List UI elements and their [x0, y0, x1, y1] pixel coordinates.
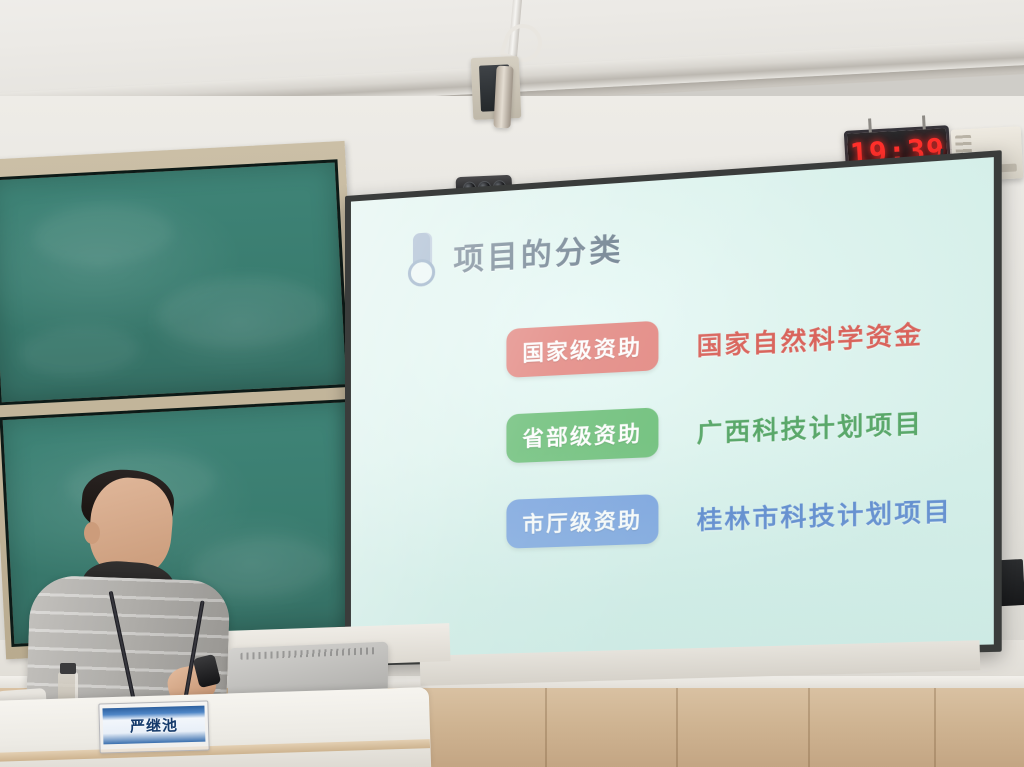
category-text-municipal: 桂林市科技计划项目 [697, 490, 953, 536]
slide-title: 项目的分类 [453, 224, 623, 280]
ceiling-microphone [493, 66, 513, 129]
laptop-vent [240, 647, 376, 660]
lecture-hall-photo: 19:39 项目的分类 国家级资助 [0, 0, 1024, 767]
category-text-national: 国家自然科学资金 [697, 313, 924, 362]
category-tag-national: 国家级资助 [506, 321, 658, 378]
nameplate-holder: 严继池 [98, 700, 209, 753]
nameplate-name: 严继池 [130, 714, 179, 736]
slide-row: 国家级资助 国家自然科学资金 [506, 304, 955, 378]
category-tag-municipal: 市厅级资助 [506, 494, 658, 549]
presenter-ear [84, 522, 100, 544]
bottle-cap [60, 663, 76, 674]
nameplate-card: 严继池 [102, 706, 205, 745]
slide-row: 市厅级资助 桂林市科技计划项目 [506, 483, 955, 549]
pin-bookmark-icon [407, 232, 437, 286]
slide-title-row: 项目的分类 [407, 198, 956, 286]
projection-screen: 项目的分类 国家级资助 国家自然科学资金 省部级资助 广西科技计划项目 市厅级资… [345, 150, 1002, 666]
category-text-provincial: 广西科技计划项目 [697, 402, 924, 449]
presentation-slide: 项目的分类 国家级资助 国家自然科学资金 省部级资助 广西科技计划项目 市厅级资… [351, 157, 994, 659]
category-tag-provincial: 省部级资助 [506, 407, 658, 463]
chalkboard-panel-upper [0, 159, 349, 405]
slide-rows: 国家级资助 国家自然科学资金 省部级资助 广西科技计划项目 市厅级资助 桂林市科… [506, 304, 955, 548]
slide-surface: 项目的分类 国家级资助 国家自然科学资金 省部级资助 广西科技计划项目 市厅级资… [351, 157, 994, 659]
slide-row: 省部级资助 广西科技计划项目 [506, 394, 955, 464]
